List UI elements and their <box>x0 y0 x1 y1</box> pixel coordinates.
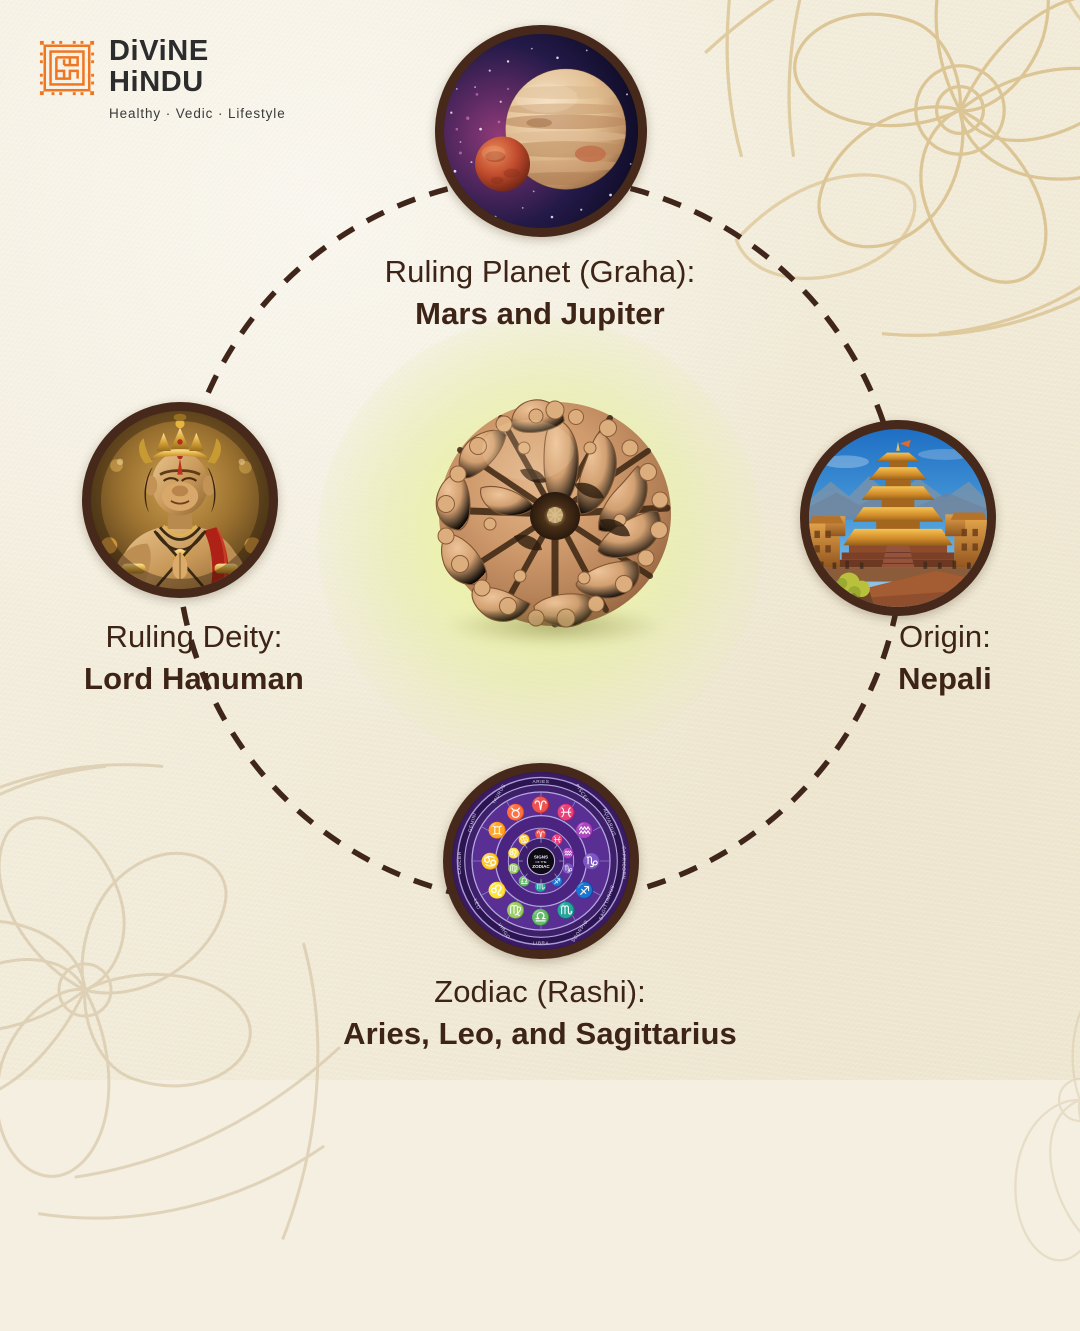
node-deity-image <box>82 402 278 598</box>
node-deity[interactable] <box>82 402 278 598</box>
brand-logo-text: DiViNE HiNDU Healthy · Vedic · Lifestyle <box>109 37 286 121</box>
zodiac-glyph: ♎ <box>531 909 550 927</box>
brand-name-line1: DiViNE <box>109 37 286 65</box>
zodiac-glyph: ♈ <box>531 796 550 814</box>
bead-shadow <box>448 606 662 646</box>
zodiac-glyph: ♉ <box>506 803 525 821</box>
zodiac-center-line1: SIGNS <box>534 854 548 859</box>
label-ruling-deity-value: Lord Hanuman <box>18 660 370 697</box>
node-zodiac[interactable]: ARIES LIBRA CANCER CAPRICORN TAURUS GEMI… <box>443 763 639 959</box>
node-planet[interactable] <box>435 25 647 237</box>
zodiac-glyph: ♌ <box>488 882 507 900</box>
zodiac-glyph: ♍ <box>506 901 525 919</box>
brand-tagline: Healthy · Vedic · Lifestyle <box>109 106 286 121</box>
label-origin-title: Origin: <box>770 618 1080 655</box>
zodiac-inner-glyph: ♌ <box>508 846 520 859</box>
label-zodiac: Zodiac (Rashi): Aries, Leo, and Sagittar… <box>0 973 1080 1052</box>
label-ruling-planet-title: Ruling Planet (Graha): <box>0 253 1080 290</box>
zodiac-glyph: ♊ <box>488 822 507 840</box>
zodiac-sign-name: LIBRA <box>533 941 550 947</box>
zodiac-glyph: ♓ <box>557 803 576 821</box>
label-ruling-planet: Ruling Planet (Graha): Mars and Jupiter <box>0 253 1080 332</box>
planets-mars-jupiter-space-illustration <box>444 34 638 228</box>
label-ruling-planet-value: Mars and Jupiter <box>0 295 1080 332</box>
zodiac-glyph: ♋ <box>481 852 500 870</box>
zodiac-sign-name: ARIES <box>533 779 550 785</box>
label-origin-value: Nepali <box>770 660 1080 697</box>
label-zodiac-value: Aries, Leo, and Sagittarius <box>0 1015 1080 1052</box>
label-zodiac-title: Zodiac (Rashi): <box>0 973 1080 1010</box>
zodiac-glyph: ♐ <box>575 882 594 900</box>
nepal-pagoda-temple-illustration <box>809 429 987 607</box>
node-origin-image <box>800 420 996 616</box>
zodiac-glyph: ♏ <box>557 901 576 919</box>
zodiac-wheel-illustration: ARIES LIBRA CANCER CAPRICORN TAURUS GEMI… <box>452 772 630 950</box>
label-origin: Origin: Nepali <box>770 618 1080 697</box>
maze-logo-icon <box>38 39 96 97</box>
zodiac-glyph: ♑ <box>582 852 601 870</box>
zodiac-inner-glyph: ♒ <box>562 846 574 859</box>
zodiac-glyph: ♒ <box>575 822 594 840</box>
zodiac-center-line3: ZODIAC <box>532 864 550 869</box>
zodiac-sign-name: CANCER <box>457 851 463 874</box>
brand-logo[interactable]: DiViNE HiNDU Healthy · Vedic · Lifestyle <box>38 37 286 121</box>
zodiac-center-line2: OF THE <box>535 860 546 864</box>
zodiac-sign-name: CAPRICORN <box>621 846 627 879</box>
brand-name-line2: HiNDU <box>109 68 286 96</box>
node-zodiac-image: ARIES LIBRA CANCER CAPRICORN TAURUS GEMI… <box>443 763 639 959</box>
node-planet-image <box>435 25 647 237</box>
label-ruling-deity: Ruling Deity: Lord Hanuman <box>18 618 370 697</box>
rudraksha-bead <box>424 388 686 640</box>
rudraksha-bead-illustration <box>424 388 686 640</box>
label-ruling-deity-title: Ruling Deity: <box>18 618 370 655</box>
node-origin[interactable] <box>800 420 996 616</box>
lord-hanuman-portrait-illustration <box>91 411 269 589</box>
